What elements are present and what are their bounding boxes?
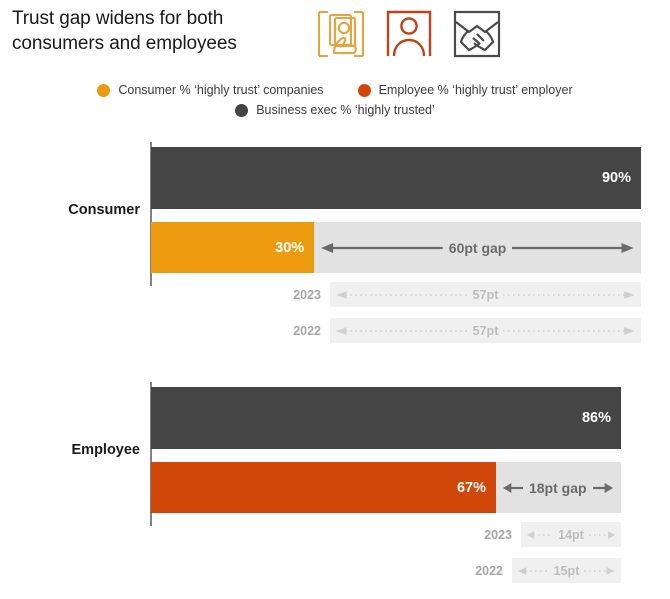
page-title: Trust gap widens for both consumers and … bbox=[12, 6, 302, 56]
gap-annotation-consumer: 60pt gap bbox=[314, 222, 641, 273]
legend-item-consumer: Consumer % ‘highly trust’ companies bbox=[97, 83, 323, 97]
history-gap-label-consumer-2023: 57pt bbox=[473, 288, 499, 302]
bar-value-employee-trust: 67% bbox=[457, 480, 486, 496]
dotted-arrow-right-icon bbox=[503, 326, 635, 336]
legend-label-business-exec: Business exec % ‘highly trusted’ bbox=[256, 103, 435, 117]
legend: Consumer % ‘highly trust’ companies Empl… bbox=[0, 83, 670, 117]
history-annotation-consumer-2022: 57pt bbox=[330, 318, 641, 343]
bar-row-employee-trust: 67% 18pt gap bbox=[151, 462, 621, 513]
dotted-arrow-right-icon bbox=[584, 566, 615, 576]
dotted-arrow-left-icon bbox=[527, 530, 553, 540]
history-gap-label-consumer-2022: 57pt bbox=[473, 324, 499, 338]
history-row-employee-2022: 2022 15pt bbox=[512, 558, 621, 583]
bar-business-exec-consumer: 90% bbox=[151, 147, 641, 209]
legend-dot-business-exec bbox=[235, 104, 248, 117]
gap-label-employee: 18pt gap bbox=[529, 480, 587, 496]
history-year-consumer-2023: 2023 bbox=[293, 288, 321, 302]
history-row-consumer-2022: 2022 57pt bbox=[330, 318, 641, 343]
history-annotation-employee-2022: 15pt bbox=[512, 558, 621, 583]
bar-value-business-exec-employee: 86% bbox=[582, 410, 611, 426]
history-gap-label-employee-2023: 14pt bbox=[558, 528, 584, 542]
arrow-left-icon bbox=[321, 241, 443, 255]
group-label-employee: Employee bbox=[0, 442, 140, 458]
legend-label-consumer: Consumer % ‘highly trust’ companies bbox=[118, 83, 323, 97]
person-in-frame-icon bbox=[381, 8, 437, 60]
legend-row-2: Business exec % ‘highly trusted’ bbox=[0, 103, 670, 117]
bar-consumer-trust: 30% bbox=[151, 222, 314, 273]
dotted-arrow-left-icon bbox=[518, 566, 549, 576]
gap-label-consumer: 60pt gap bbox=[449, 240, 507, 256]
arrow-right-icon bbox=[593, 481, 613, 495]
arrow-right-icon bbox=[512, 241, 634, 255]
history-row-consumer-2023: 2023 57pt bbox=[330, 282, 641, 307]
chart-group-consumer: Consumer 90% 30% 60pt gap bbox=[0, 138, 670, 350]
legend-item-business-exec: Business exec % ‘highly trusted’ bbox=[235, 103, 435, 117]
legend-item-employee: Employee % ‘highly trust’ employer bbox=[358, 83, 573, 97]
arrow-left-icon bbox=[503, 481, 523, 495]
group-label-consumer: Consumer bbox=[0, 202, 140, 218]
legend-dot-employee bbox=[358, 84, 371, 97]
legend-row-1: Consumer % ‘highly trust’ companies Empl… bbox=[0, 83, 670, 97]
legend-dot-consumer bbox=[97, 84, 110, 97]
bar-row-consumer-trust: 30% 60pt gap bbox=[151, 222, 641, 273]
icon-strip bbox=[313, 8, 505, 60]
history-annotation-consumer-2023: 57pt bbox=[330, 282, 641, 307]
chart-group-employee: Employee 86% 67% 18pt gap bbox=[0, 378, 670, 588]
gap-annotation-employee: 18pt gap bbox=[496, 462, 621, 513]
dotted-arrow-right-icon bbox=[589, 530, 615, 540]
dotted-arrow-left-icon bbox=[336, 326, 468, 336]
history-annotation-employee-2023: 14pt bbox=[521, 522, 621, 547]
history-year-employee-2023: 2023 bbox=[484, 528, 512, 542]
bar-employee-trust: 67% bbox=[151, 462, 496, 513]
dotted-arrow-right-icon bbox=[503, 290, 635, 300]
bar-value-business-exec-consumer: 90% bbox=[602, 170, 631, 186]
dotted-arrow-left-icon bbox=[336, 290, 468, 300]
legend-label-employee: Employee % ‘highly trust’ employer bbox=[379, 83, 573, 97]
bar-value-consumer-trust: 30% bbox=[275, 240, 304, 256]
history-row-employee-2023: 2023 14pt bbox=[521, 522, 621, 547]
bar-business-exec-employee: 86% bbox=[151, 387, 621, 449]
hand-holding-money-icon bbox=[313, 8, 369, 60]
history-gap-label-employee-2022: 15pt bbox=[554, 564, 580, 578]
handshake-icon bbox=[449, 8, 505, 60]
history-year-employee-2022: 2022 bbox=[475, 564, 503, 578]
history-year-consumer-2022: 2022 bbox=[293, 324, 321, 338]
